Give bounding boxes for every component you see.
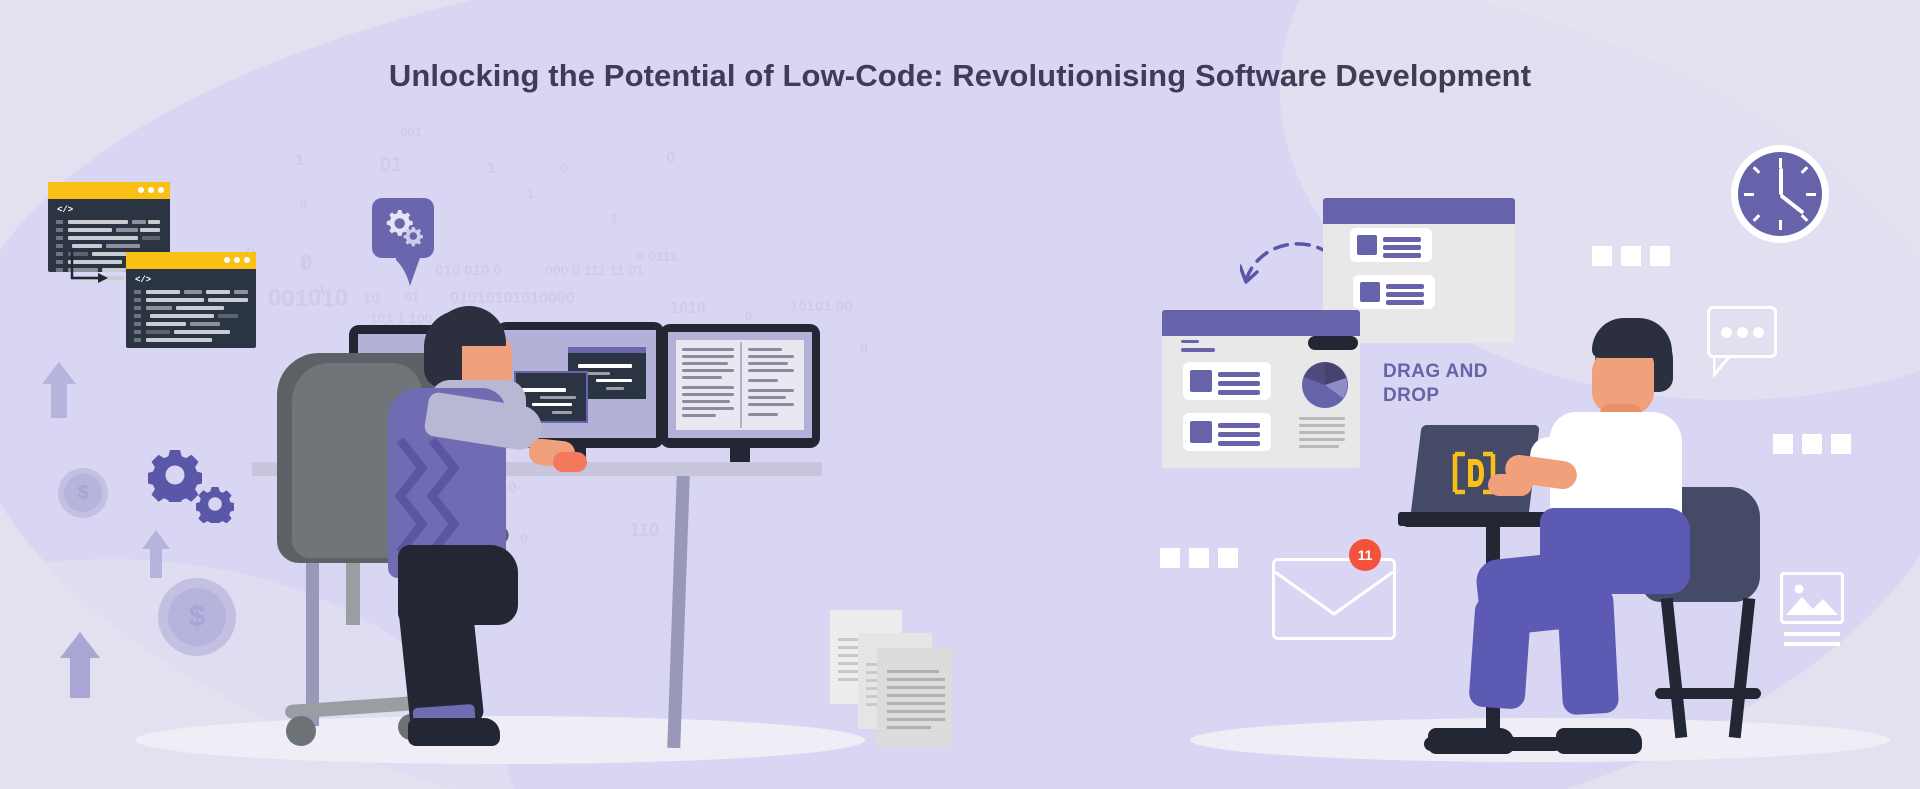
panel-subtitle-line (1181, 348, 1215, 352)
card-thumbnail (1190, 370, 1212, 392)
dots-group-mid-right (1773, 434, 1851, 454)
chart-legend-line (1299, 445, 1339, 448)
dots-group-top-right (1592, 246, 1670, 266)
drag-and-drop-line2: DROP (1383, 384, 1543, 408)
gears-icon (382, 207, 424, 249)
clock-hour-hand (1779, 168, 1783, 195)
connector-arrow-icon (68, 248, 114, 290)
clock-icon (1731, 145, 1829, 243)
panel-title-line (1181, 340, 1199, 343)
speech-bubble-tail (396, 252, 430, 292)
dollar-coin-icon: $ (158, 578, 236, 656)
card-thumbnail (1190, 421, 1212, 443)
chat-bubble-icon (1707, 306, 1777, 358)
gear-speech-bubble (372, 198, 434, 258)
envelope-badge: 11 (1349, 539, 1381, 571)
chart-legend-line (1299, 424, 1345, 427)
image-placeholder-icon (1780, 572, 1844, 624)
builder-card[interactable] (1183, 413, 1271, 451)
code-tag-icon: </> (135, 275, 151, 285)
component-card[interactable] (1350, 228, 1432, 262)
clock-minute-hand (1780, 194, 1805, 215)
pie-chart-icon (1300, 360, 1350, 410)
page-title: Unlocking the Potential of Low-Code: Rev… (0, 58, 1920, 94)
gear-small-icon (196, 485, 234, 523)
card-thumbnail (1360, 282, 1380, 302)
up-arrow-icon (58, 630, 102, 702)
component-card[interactable] (1353, 275, 1435, 309)
card-thumbnail (1357, 235, 1377, 255)
up-arrow-icon (140, 528, 172, 582)
drag-and-drop-line1: DRAG AND (1383, 360, 1543, 384)
dark-pill-button[interactable] (1308, 336, 1358, 350)
dollar-coin-icon: $ (58, 468, 108, 518)
drag-and-drop-label: DRAG AND DROP (1383, 360, 1543, 408)
hero-banner: Unlocking the Potential of Low-Code: Rev… (0, 0, 1920, 789)
panel-header (1162, 310, 1360, 336)
builder-card[interactable] (1183, 362, 1271, 400)
panel-header (1323, 198, 1515, 224)
chart-legend-line (1299, 417, 1345, 420)
dots-group-bottom-left (1160, 548, 1238, 568)
floor-shadow-left (135, 716, 865, 764)
gear-icon (148, 448, 202, 502)
chart-legend-line (1299, 438, 1345, 441)
code-window-titlebar (126, 252, 256, 269)
code-tag-icon: </> (57, 205, 73, 215)
code-window-titlebar (48, 182, 170, 199)
chart-legend-line (1299, 431, 1345, 434)
envelope-icon[interactable] (1272, 558, 1396, 640)
up-arrow-icon (40, 360, 78, 422)
code-editor-window-front[interactable]: </> (126, 252, 256, 348)
